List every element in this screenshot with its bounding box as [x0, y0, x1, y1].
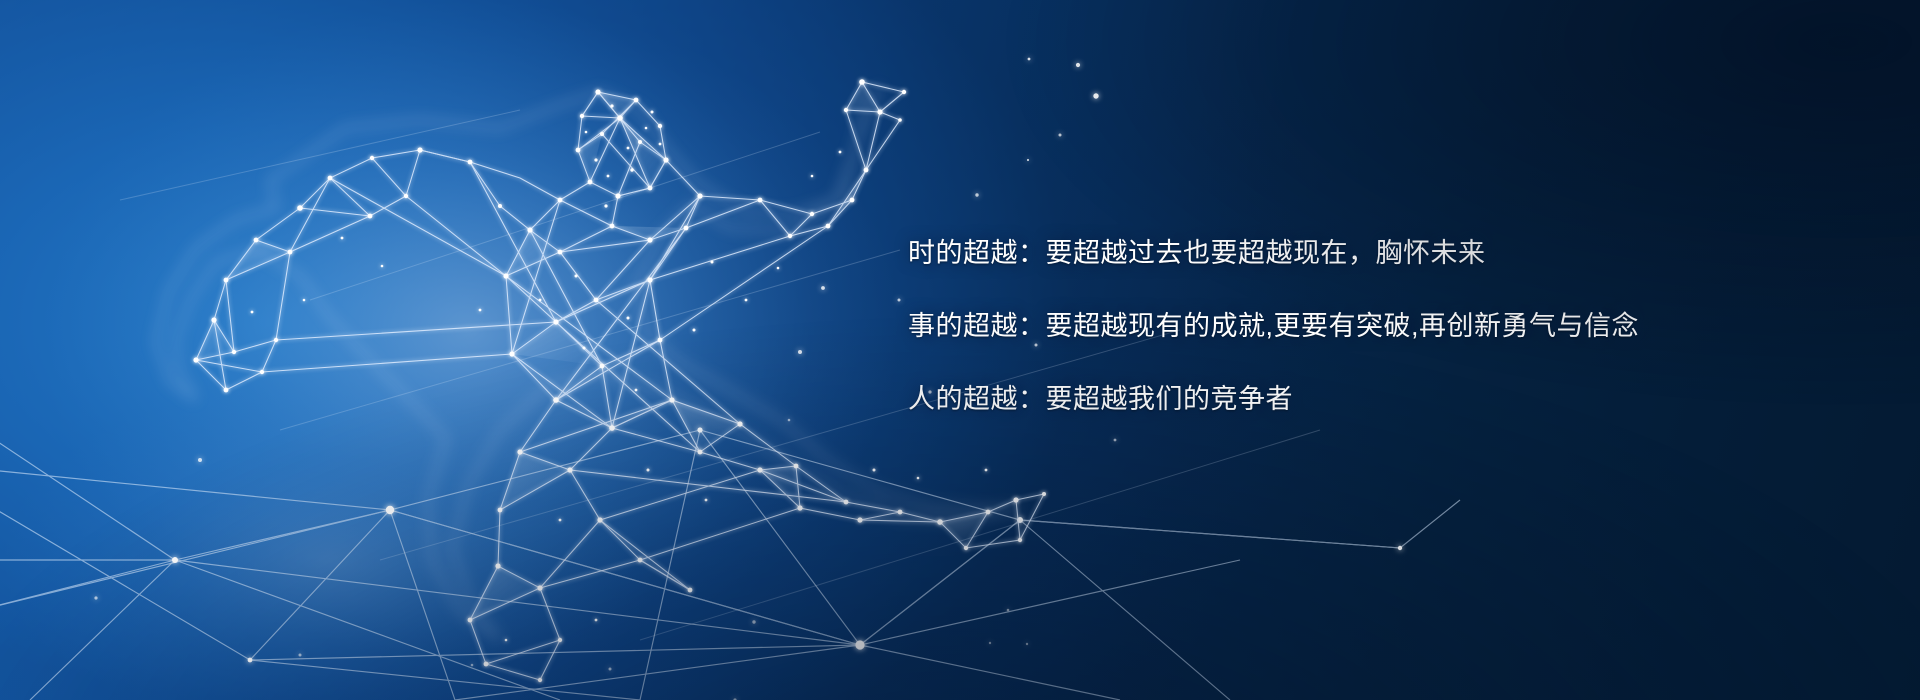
- hero-banner: 时的超越：要超越过去也要超越现在，胸怀未来 事的超越：要超越现有的成就,更要有突…: [0, 0, 1920, 700]
- slogan-line-people: 人的超越：要超越我们的竞争者: [908, 384, 1858, 414]
- slogan-line-time: 时的超越：要超越过去也要超越现在，胸怀未来: [908, 238, 1858, 268]
- slogan-text-block: 时的超越：要超越过去也要超越现在，胸怀未来 事的超越：要超越现有的成就,更要有突…: [908, 238, 1858, 414]
- slogan-line-work: 事的超越：要超越现有的成就,更要有突破,再创新勇气与信念: [908, 311, 1858, 341]
